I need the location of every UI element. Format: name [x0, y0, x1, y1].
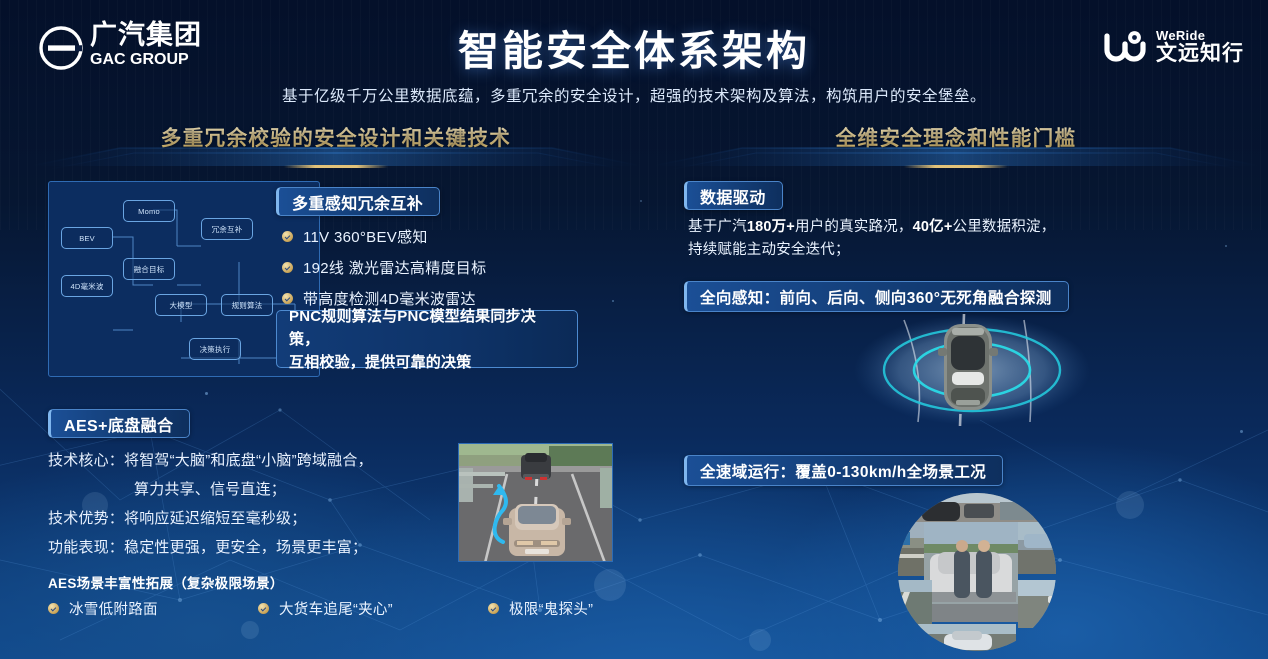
diagram-node-large-model: 大模型: [155, 294, 207, 316]
diagram-node-bev: BEV: [61, 227, 113, 249]
list-item: 大货车追尾“夹心”: [258, 598, 488, 619]
pill-full-speed-range: 全速域运行：覆盖0-130km/h全场景工况: [684, 455, 1003, 486]
weride-mark-icon: [1103, 30, 1147, 64]
weride-name-cn: 文远知行: [1156, 43, 1244, 65]
pnc-highlight-box: PNC规则算法与PNC模型结果同步决策， 互相校验，提供可靠的决策: [276, 310, 578, 368]
diagram-node-decision-exec: 决策执行: [189, 338, 241, 360]
pill-label: 全向感知：前向、后向、侧向360°无死角融合探测: [700, 286, 1052, 308]
car-topdown-icon: [938, 324, 998, 410]
pill-omni-perception: 全向感知：前向、后向、侧向360°无死角融合探测: [684, 281, 1069, 312]
check-bullet-icon: [488, 603, 499, 614]
list-item: 11V 360°BEV感知: [282, 226, 486, 247]
section-accent-bar-right: [904, 165, 1008, 168]
section-title-left: 多重冗余校验的安全设计和关键技术: [30, 121, 642, 151]
highway-driving-photo: [458, 443, 613, 562]
highway-photo-graphic: [459, 444, 613, 562]
weride-wordmark: WeRide 文远知行: [1156, 29, 1244, 66]
page-title: 智能安全体系架构: [0, 17, 1268, 77]
pill-data-driven: 数据驱动: [684, 181, 783, 210]
collage-graphic: [852, 492, 1102, 652]
list-item: 192线 激光雷达高精度目标: [282, 257, 486, 278]
data-line-1: 基于广汽180万+用户的真实路况，40亿+公里数据积淀，: [688, 216, 1208, 239]
vehicle-radar-illustration: [852, 312, 1092, 428]
pill-aes-chassis: AES+底盘融合: [48, 409, 190, 438]
section-title-right: 全维安全理念和性能门槛: [652, 121, 1260, 151]
diagram-node-fusion-target: 融合目标: [123, 258, 175, 280]
data-line-2: 持续赋能主动安全迭代；: [688, 239, 1208, 262]
diagram-node-rule-algorithm: 规则算法: [221, 294, 273, 316]
pill-label: 全速域运行：覆盖0-130km/h全场景工况: [700, 460, 986, 482]
weride-name-en: WeRide: [1156, 29, 1244, 43]
scenario-photo-collage: [852, 492, 1102, 652]
aes-row-function: 功能表现：稳定性更强，更安全，场景更丰富；: [48, 533, 448, 562]
check-bullet-icon: [282, 262, 293, 273]
pnc-text: PNC规则算法与PNC模型结果同步决策， 互相校验，提供可靠的决策: [289, 305, 565, 374]
data-driven-description: 基于广汽180万+用户的真实路况，40亿+公里数据积淀， 持续赋能主动安全迭代；: [688, 216, 1208, 262]
check-bullet-icon: [258, 603, 269, 614]
section-accent-bar-left: [284, 165, 388, 168]
pill-label: 数据驱动: [700, 184, 766, 208]
pnc-line-2: 互相校验，提供可靠的决策: [289, 354, 471, 371]
bullet-label: 11V 360°BEV感知: [303, 226, 428, 247]
aes-description: 技术核心：将智驾“大脑”和底盘“小脑”跨域融合， 算力共享、信号直连； 技术优势…: [48, 446, 448, 562]
aes-row-core-cont: 算力共享、信号直连；: [48, 475, 448, 504]
bullet-label: 192线 激光雷达高精度目标: [303, 257, 486, 278]
aes-row-advantage: 技术优势：将响应延迟缩短至毫秒级；: [48, 504, 448, 533]
weride-logo: WeRide 文远知行: [1103, 22, 1244, 72]
bullet-label: 大货车追尾“夹心”: [279, 598, 393, 619]
aes-subtitle: AES场景丰富性拓展（复杂极限场景）: [48, 572, 284, 592]
diagram-node-momo: Momo: [123, 200, 175, 222]
pnc-line-1: PNC规则算法与PNC模型结果同步决策，: [289, 308, 536, 348]
pill-label: 多重感知冗余互补: [292, 190, 423, 214]
check-bullet-icon: [282, 293, 293, 304]
check-bullet-icon: [282, 231, 293, 242]
section-header-right: 全维安全理念和性能门槛: [652, 118, 1260, 174]
aes-row-core: 技术核心：将智驾“大脑”和底盘“小脑”跨域融合，: [48, 446, 448, 475]
page-subtitle: 基于亿级千万公里数据底蕴，多重冗余的安全设计，超强的技术架构及算法，构筑用户的安…: [0, 84, 1268, 106]
section-header-left: 多重冗余校验的安全设计和关键技术: [30, 118, 642, 174]
diagram-node-4d-radar: 4D毫米波: [61, 275, 113, 297]
list-item: 冰雪低附路面: [48, 598, 258, 619]
list-item: 极限“鬼探头”: [488, 598, 593, 619]
bullet-label: 冰雪低附路面: [69, 598, 158, 619]
pill-label: AES+底盘融合: [64, 412, 173, 436]
header: 广汽集团 GAC GROUP 智能安全体系架构 基于亿级千万公里数据底蕴，多重冗…: [0, 0, 1268, 118]
aes-scenario-list: 冰雪低附路面 大货车追尾“夹心” 极限“鬼探头”: [48, 598, 628, 619]
bullet-label: 极限“鬼探头”: [509, 598, 593, 619]
diagram-node-redundancy: 冗余互补: [201, 218, 253, 240]
pill-multi-perception: 多重感知冗余互补: [276, 187, 440, 216]
check-bullet-icon: [48, 603, 59, 614]
